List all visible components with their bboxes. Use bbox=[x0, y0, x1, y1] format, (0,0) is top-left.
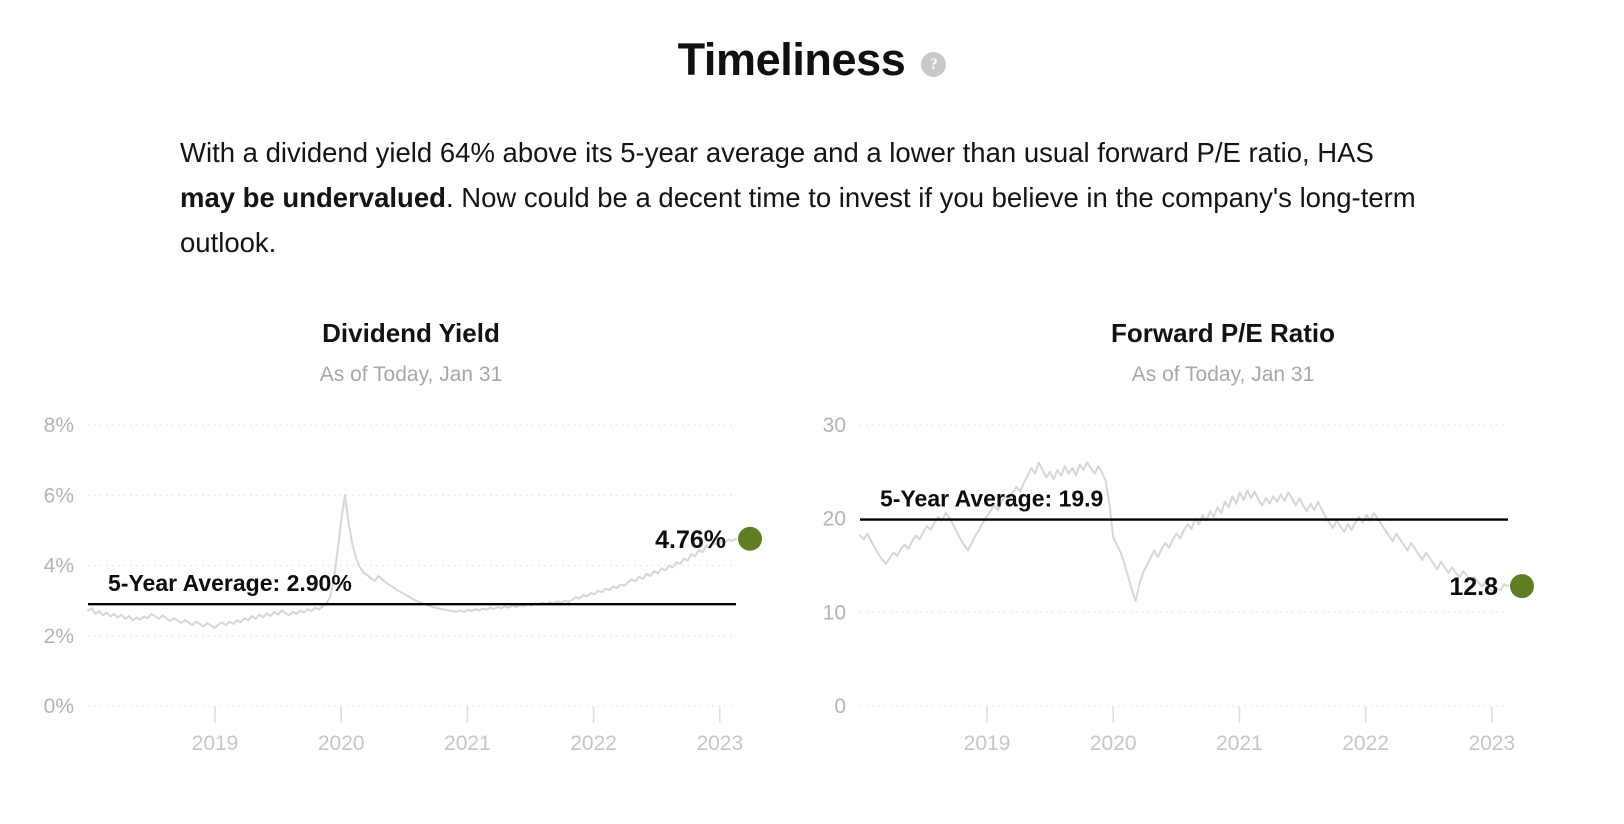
x-axis-tick-label: 2023 bbox=[696, 732, 743, 751]
page-header: Timeliness ? bbox=[0, 36, 1624, 83]
y-axis-tick-label: 6% bbox=[44, 484, 74, 507]
y-axis-tick-label: 0% bbox=[44, 695, 74, 718]
x-axis-tick-label: 2022 bbox=[570, 732, 617, 751]
y-axis-tick-label: 2% bbox=[44, 625, 74, 648]
x-axis-tick-label: 2021 bbox=[444, 732, 491, 751]
chart-header-dividend-yield: Dividend Yield As of Today, Jan 31 bbox=[0, 318, 812, 387]
forward-pe-line-chart[interactable]: 0102030201920202021202220235-Year Averag… bbox=[812, 411, 1624, 751]
chart-subtitle: As of Today, Jan 31 bbox=[822, 363, 1624, 387]
y-axis-tick-label: 10 bbox=[823, 602, 846, 625]
x-axis-tick-label: 2022 bbox=[1342, 732, 1389, 751]
current-value-label: 12.8 bbox=[1449, 573, 1498, 601]
chart-title: Dividend Yield bbox=[10, 318, 812, 349]
question-mark-circle-icon[interactable]: ? bbox=[921, 52, 946, 77]
y-axis-tick-label: 8% bbox=[44, 414, 74, 437]
chart-panel-forward-pe: Forward P/E Ratio As of Today, Jan 31 01… bbox=[812, 318, 1624, 751]
x-axis-tick-label: 2021 bbox=[1216, 732, 1263, 751]
page-title: Timeliness bbox=[678, 36, 906, 83]
y-axis-tick-label: 0 bbox=[834, 695, 846, 718]
y-axis-tick-label: 20 bbox=[823, 508, 846, 531]
five-year-average-label: 5-Year Average: 2.90% bbox=[108, 570, 352, 596]
summary-emphasis: may be undervalued bbox=[180, 182, 446, 213]
summary-text-part1: With a dividend yield 64% above its 5-ye… bbox=[180, 137, 1374, 168]
plot-area-forward-pe: 0102030201920202021202220235-Year Averag… bbox=[812, 411, 1624, 751]
dividend-yield-line-chart[interactable]: 0%2%4%6%8%201920202021202220235-Year Ave… bbox=[0, 411, 812, 751]
current-value-label: 4.76% bbox=[655, 526, 726, 554]
chart-subtitle: As of Today, Jan 31 bbox=[10, 363, 812, 387]
x-axis-tick-label: 2019 bbox=[192, 732, 239, 751]
charts-row: Dividend Yield As of Today, Jan 31 0%2%4… bbox=[0, 318, 1624, 751]
series-line bbox=[88, 495, 736, 628]
x-axis-tick-label: 2023 bbox=[1468, 732, 1515, 751]
chart-header-forward-pe: Forward P/E Ratio As of Today, Jan 31 bbox=[812, 318, 1624, 387]
plot-area-dividend-yield: 0%2%4%6%8%201920202021202220235-Year Ave… bbox=[0, 411, 812, 751]
chart-title: Forward P/E Ratio bbox=[822, 318, 1624, 349]
five-year-average-label: 5-Year Average: 19.9 bbox=[880, 486, 1103, 512]
current-value-marker[interactable] bbox=[1510, 574, 1534, 598]
x-axis-tick-label: 2020 bbox=[318, 732, 365, 751]
timeliness-page: Timeliness ? With a dividend yield 64% a… bbox=[0, 0, 1624, 824]
y-axis-tick-label: 4% bbox=[44, 555, 74, 578]
summary-paragraph: With a dividend yield 64% above its 5-ye… bbox=[180, 130, 1435, 265]
x-axis-tick-label: 2019 bbox=[964, 732, 1011, 751]
chart-panel-dividend-yield: Dividend Yield As of Today, Jan 31 0%2%4… bbox=[0, 318, 812, 751]
x-axis-tick-label: 2020 bbox=[1090, 732, 1137, 751]
y-axis-tick-label: 30 bbox=[823, 414, 846, 437]
series-line bbox=[860, 463, 1508, 602]
current-value-marker[interactable] bbox=[738, 527, 762, 551]
